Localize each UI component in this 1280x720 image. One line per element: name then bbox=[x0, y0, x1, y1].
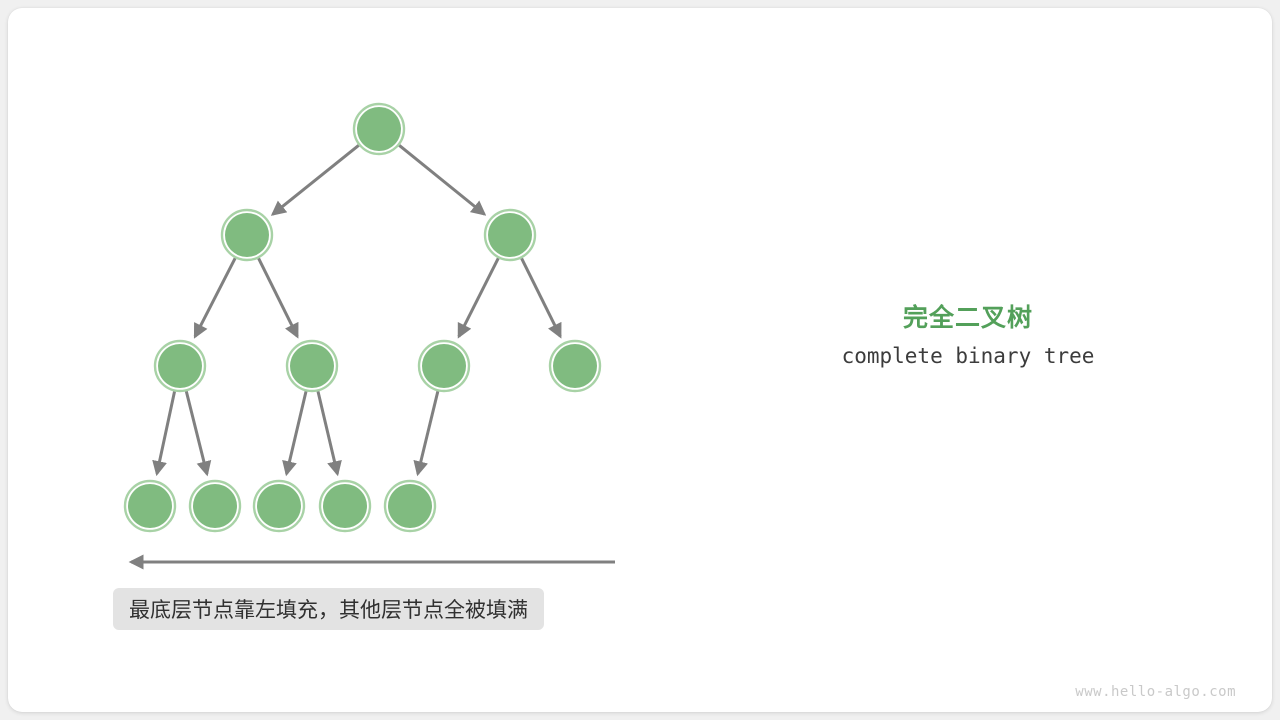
tree-nodes bbox=[125, 104, 600, 531]
tree-edge bbox=[399, 145, 484, 214]
caption-label: 最底层节点靠左填充，其他层节点全被填满 bbox=[129, 594, 528, 624]
node-circle bbox=[225, 213, 269, 257]
node-circle bbox=[323, 484, 367, 528]
tree-node bbox=[550, 341, 600, 391]
tree-edge bbox=[195, 258, 235, 336]
node-circle bbox=[357, 107, 401, 151]
tree-node bbox=[287, 341, 337, 391]
tree-node bbox=[190, 481, 240, 531]
tree-node bbox=[354, 104, 404, 154]
node-circle bbox=[193, 484, 237, 528]
tree-edge bbox=[318, 391, 337, 474]
node-circle bbox=[257, 484, 301, 528]
tree-node bbox=[320, 481, 370, 531]
tree-node bbox=[125, 481, 175, 531]
tree-edge bbox=[259, 258, 298, 336]
tree-edge bbox=[157, 391, 175, 473]
tree-node bbox=[485, 210, 535, 260]
tree-edge bbox=[459, 258, 498, 336]
node-circle bbox=[290, 344, 334, 388]
node-circle bbox=[488, 213, 532, 257]
tree-edge bbox=[273, 145, 359, 214]
caption-badge: 最底层节点靠左填充，其他层节点全被填满 bbox=[113, 588, 544, 630]
node-circle bbox=[388, 484, 432, 528]
node-circle bbox=[553, 344, 597, 388]
tree-node bbox=[222, 210, 272, 260]
tree-edge bbox=[186, 391, 207, 474]
diagram-canvas: 完全二叉树 complete binary tree 最底层节点靠左填充，其他层… bbox=[0, 0, 1280, 720]
tree-node bbox=[419, 341, 469, 391]
tree-edges bbox=[157, 145, 560, 474]
tree-node bbox=[254, 481, 304, 531]
tree-node bbox=[385, 481, 435, 531]
node-circle bbox=[158, 344, 202, 388]
tree-edge bbox=[418, 391, 438, 474]
watermark-label: www.hello-algo.com bbox=[1075, 684, 1236, 700]
node-circle bbox=[422, 344, 466, 388]
legend-title: 完全二叉树 bbox=[768, 298, 1168, 334]
tree-edge bbox=[287, 391, 306, 474]
legend-subtitle: complete binary tree bbox=[768, 344, 1168, 368]
tree-edge bbox=[522, 258, 561, 336]
node-circle bbox=[128, 484, 172, 528]
tree-node bbox=[155, 341, 205, 391]
